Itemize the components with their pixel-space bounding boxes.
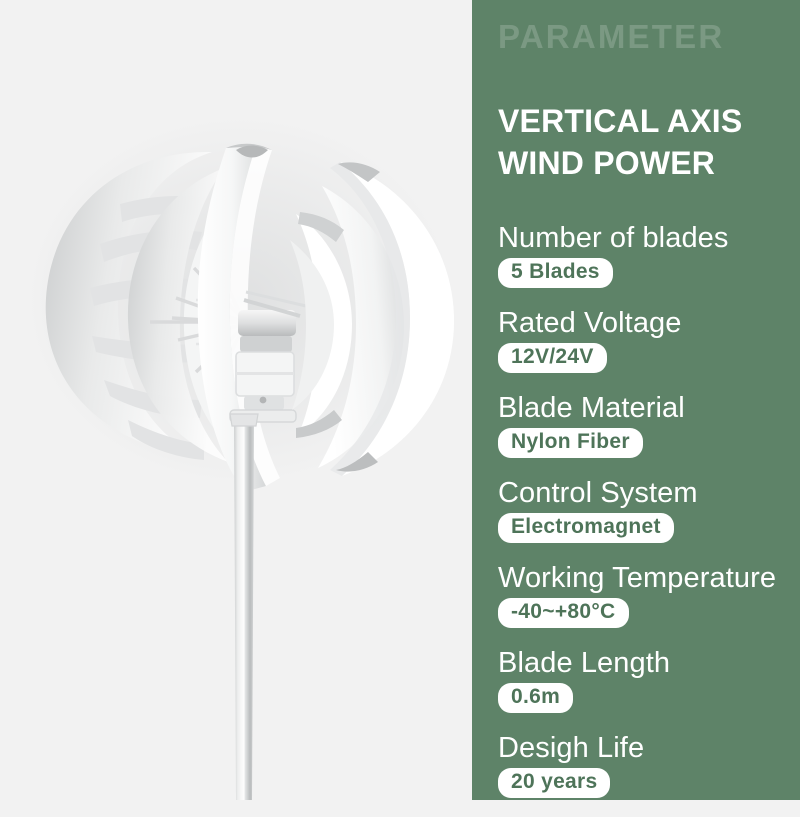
spec-label: Number of blades (498, 222, 796, 255)
page-title-line2: WIND POWER (498, 142, 742, 184)
status-badge: -40~+80°C (498, 598, 629, 628)
page-title: VERTICAL AXIS WIND POWER (498, 100, 742, 184)
spec-label: Blade Length (498, 647, 796, 680)
spec-row-blade-length: Blade Length 0.6m (498, 647, 796, 732)
status-badge: 0.6m (498, 683, 573, 713)
watermark-parameter: PARAMETER (498, 20, 724, 53)
spec-row-working-temperature: Working Temperature -40~+80°C (498, 562, 796, 647)
infographic-root: PARAMETER VERTICAL AXIS WIND POWER Numbe… (0, 0, 800, 800)
wind-turbine-illustration (0, 0, 472, 800)
product-image (0, 0, 472, 800)
spec-label: Control System (498, 477, 796, 510)
status-badge: Nylon Fiber (498, 428, 643, 458)
spec-row-rated-voltage: Rated Voltage 12V/24V (498, 307, 796, 392)
spec-label: Rated Voltage (498, 307, 796, 340)
spec-row-control-system: Control System Electromagnet (498, 477, 796, 562)
spec-label: Blade Material (498, 392, 796, 425)
status-badge: 12V/24V (498, 343, 607, 373)
spec-row-desigh-life: Desigh Life 20 years (498, 732, 796, 817)
page-title-line1: VERTICAL AXIS (498, 100, 742, 142)
spec-row-blade-material: Blade Material Nylon Fiber (498, 392, 796, 477)
spec-row-number-of-blades: Number of blades 5 Blades (498, 222, 796, 307)
status-badge: 5 Blades (498, 258, 613, 288)
parameter-panel: PARAMETER VERTICAL AXIS WIND POWER Numbe… (472, 0, 800, 800)
spec-label: Desigh Life (498, 732, 796, 765)
status-badge: 20 years (498, 768, 610, 798)
spec-list: Number of blades 5 Blades Rated Voltage … (498, 222, 796, 817)
spec-label: Working Temperature (498, 562, 796, 595)
status-badge: Electromagnet (498, 513, 674, 543)
